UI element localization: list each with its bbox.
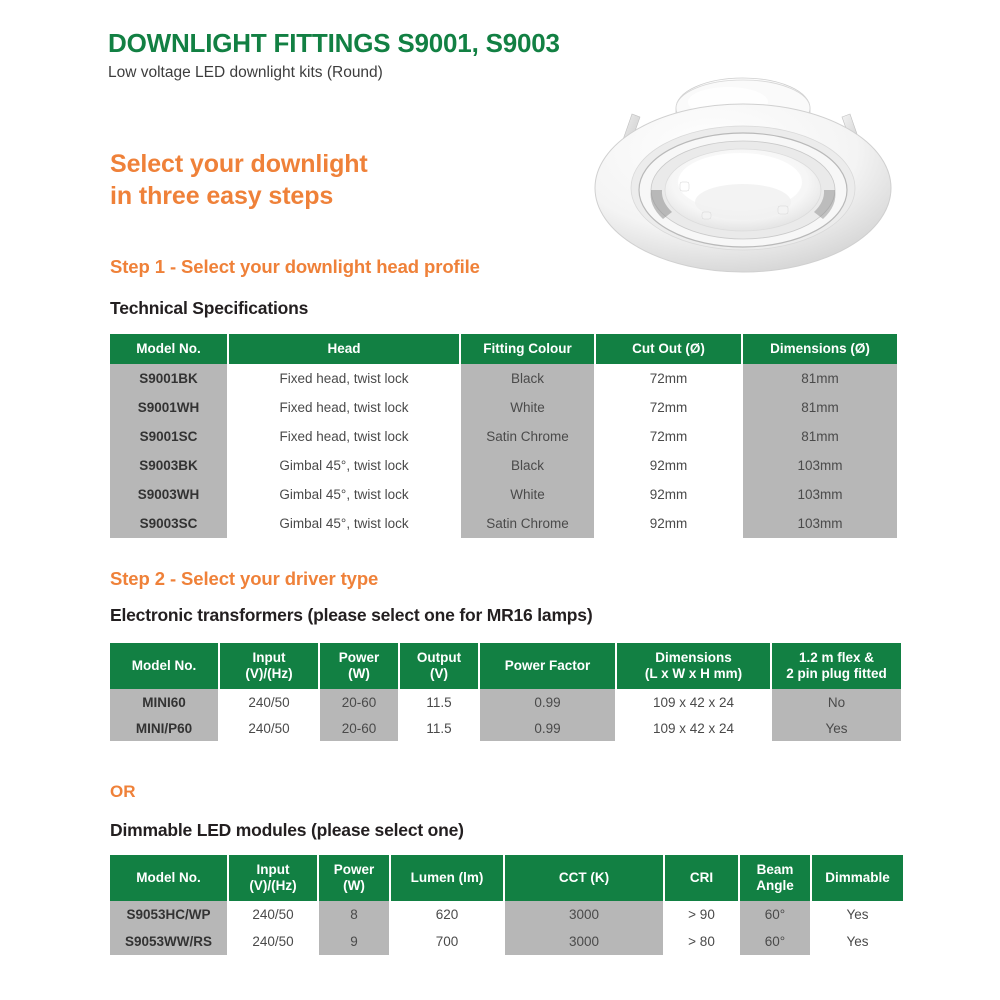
page-title: DOWNLIGHT FITTINGS S9001, S9003 <box>108 28 560 59</box>
page-subtitle: Low voltage LED downlight kits (Round) <box>108 64 383 82</box>
intro-heading: Select your downlight in three easy step… <box>110 148 368 212</box>
dimmable-led-modules-heading: Dimmable LED modules (please select one) <box>110 820 464 841</box>
dimmable-led-modules-table: Model No. Input(V)/(Hz) Power(W) Lumen (… <box>108 855 905 955</box>
col-fitting-colour: Fitting Colour <box>461 334 594 364</box>
step2-heading: Step 2 - Select your driver type <box>110 568 378 590</box>
col-lumen: Lumen (lm) <box>391 855 503 901</box>
table-row: MINI/P60 240/50 20-60 11.5 0.99 109 x 42… <box>110 715 901 741</box>
step1-heading: Step 1 - Select your downlight head prof… <box>110 256 480 278</box>
col-input: Input(V)/(Hz) <box>220 643 318 689</box>
col-output: Output(V) <box>400 643 478 689</box>
table-row: S9053HC/WP 240/50 8 620 3000 > 90 60° Ye… <box>110 901 903 928</box>
technical-specifications-table: Model No. Head Fitting Colour Cut Out (Ø… <box>108 334 899 538</box>
col-power: Power(W) <box>319 855 389 901</box>
table-row: S9001SC Fixed head, twist lock Satin Chr… <box>110 422 897 451</box>
intro-line-2: in three easy steps <box>110 182 333 210</box>
col-dimensions: Dimensions(L x W x H mm) <box>617 643 770 689</box>
electronic-transformers-heading: Electronic transformers (please select o… <box>110 605 592 626</box>
table-row: S9053WW/RS 240/50 9 700 3000 > 80 60° Ye… <box>110 928 903 955</box>
col-model-no: Model No. <box>110 855 227 901</box>
col-flex-plug: 1.2 m flex &2 pin plug fitted <box>772 643 901 689</box>
col-model-no: Model No. <box>110 334 227 364</box>
col-power-factor: Power Factor <box>480 643 615 689</box>
col-cri: CRI <box>665 855 738 901</box>
col-dimensions: Dimensions (Ø) <box>743 334 897 364</box>
col-cut-out: Cut Out (Ø) <box>596 334 741 364</box>
downlight-product-image <box>588 62 898 282</box>
table-row: S9003SC Gimbal 45°, twist lock Satin Chr… <box>110 509 897 538</box>
table-row: S9003WH Gimbal 45°, twist lock White 92m… <box>110 480 897 509</box>
table-row: S9001WH Fixed head, twist lock White 72m… <box>110 393 897 422</box>
col-input: Input(V)/(Hz) <box>229 855 317 901</box>
intro-line-1: Select your downlight <box>110 150 368 178</box>
col-beam-angle: BeamAngle <box>740 855 810 901</box>
table-header-row: Model No. Input(V)/(Hz) Power(W) Output(… <box>110 643 901 689</box>
spec-sheet-page: DOWNLIGHT FITTINGS S9001, S9003 Low volt… <box>0 0 1000 1000</box>
table-row: S9001BK Fixed head, twist lock Black 72m… <box>110 364 897 393</box>
col-power: Power(W) <box>320 643 398 689</box>
electronic-transformers-table: Model No. Input(V)/(Hz) Power(W) Output(… <box>108 643 903 741</box>
col-head: Head <box>229 334 459 364</box>
or-divider-label: OR <box>110 782 136 802</box>
table-header-row: Model No. Head Fitting Colour Cut Out (Ø… <box>110 334 897 364</box>
col-model-no: Model No. <box>110 643 218 689</box>
table-row: MINI60 240/50 20-60 11.5 0.99 109 x 42 x… <box>110 689 901 715</box>
table-row: S9003BK Gimbal 45°, twist lock Black 92m… <box>110 451 897 480</box>
col-cct: CCT (K) <box>505 855 663 901</box>
col-dimmable: Dimmable <box>812 855 903 901</box>
technical-specifications-heading: Technical Specifications <box>110 298 308 319</box>
table-header-row: Model No. Input(V)/(Hz) Power(W) Lumen (… <box>110 855 903 901</box>
